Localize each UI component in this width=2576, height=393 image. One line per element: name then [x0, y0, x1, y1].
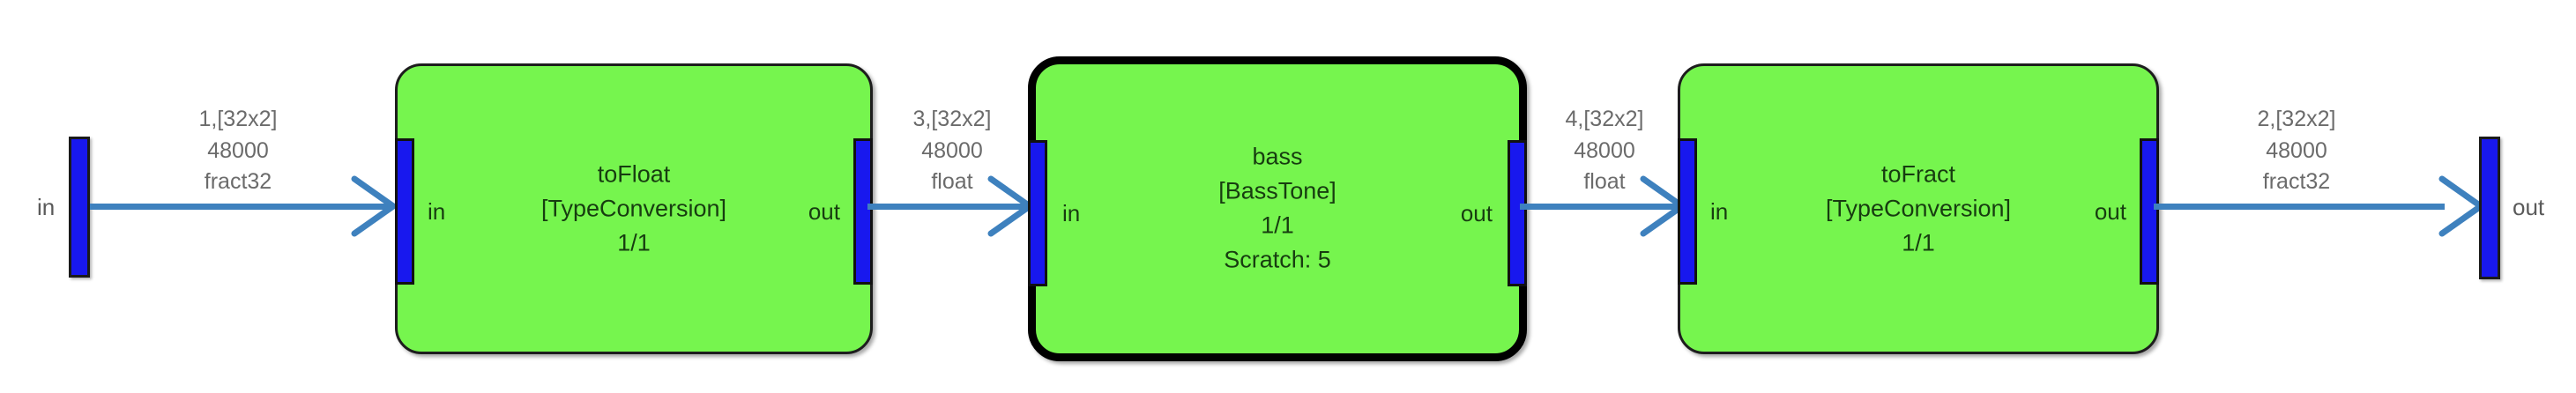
block-tofloat-in-label: in — [428, 200, 445, 223]
signal-2-wire[interactable] — [2154, 204, 2445, 210]
block-bass-out-port[interactable] — [1508, 140, 1527, 286]
signal-4-datatype: float — [1534, 167, 1675, 198]
block-tofloat-body: toFloat [TypeConversion] 1/1 — [398, 157, 870, 260]
signal-3-datatype: float — [882, 167, 1023, 198]
signal-1-datatype: fract32 — [141, 167, 335, 198]
signal-2-datatype: fract32 — [2200, 167, 2394, 198]
block-bass-out-label: out — [1461, 202, 1493, 225]
signal-3-index: 3,[32x2] — [882, 104, 1023, 136]
block-tofract-body: toFract [TypeConversion] 1/1 — [1680, 157, 2156, 260]
block-tofract-name: toFract — [1680, 157, 2156, 191]
block-diagram-canvas: in 1,[32x2] 48000 fract32 in out toFloat… — [0, 0, 2576, 393]
output-terminal[interactable] — [2479, 137, 2500, 279]
block-tofract-type: [TypeConversion] — [1680, 191, 2156, 226]
signal-4-index: 4,[32x2] — [1534, 104, 1675, 136]
block-bass-rate: 1/1 — [1036, 209, 1519, 243]
output-terminal-label: out — [2513, 196, 2544, 219]
input-terminal[interactable] — [69, 137, 90, 278]
signal-1-rate: 48000 — [141, 136, 335, 167]
block-tofract-in-label: in — [1710, 200, 1728, 223]
block-bass[interactable]: in out bass [BassTone] 1/1 Scratch: 5 — [1028, 56, 1527, 361]
signal-2-rate: 48000 — [2200, 136, 2394, 167]
block-bass-body: bass [BassTone] 1/1 Scratch: 5 — [1036, 140, 1519, 278]
block-bass-extra: Scratch: 5 — [1036, 243, 1519, 278]
signal-1-wire[interactable] — [90, 204, 390, 210]
signal-2-index: 2,[32x2] — [2200, 104, 2394, 136]
block-tofloat-out-label: out — [808, 200, 840, 223]
block-bass-in-port[interactable] — [1028, 140, 1047, 286]
block-tofloat-in-port[interactable] — [395, 138, 414, 285]
block-tofloat-rate: 1/1 — [398, 226, 870, 261]
block-bass-type: [BassTone] — [1036, 174, 1519, 209]
signal-1-annotation: 1,[32x2] 48000 fract32 — [141, 104, 335, 198]
block-tofract-rate: 1/1 — [1680, 226, 2156, 261]
block-tofloat-name: toFloat — [398, 157, 870, 191]
block-tofloat-out-port[interactable] — [853, 138, 873, 285]
signal-3-rate: 48000 — [882, 136, 1023, 167]
block-tofract[interactable]: in out toFract [TypeConversion] 1/1 — [1678, 63, 2159, 354]
block-tofract-out-port[interactable] — [2140, 138, 2159, 285]
signal-3-annotation: 3,[32x2] 48000 float — [882, 104, 1023, 198]
input-terminal-label: in — [37, 196, 55, 219]
block-tofract-in-port[interactable] — [1678, 138, 1697, 285]
block-tofract-out-label: out — [2095, 200, 2126, 223]
block-tofloat[interactable]: in out toFloat [TypeConversion] 1/1 — [395, 63, 873, 354]
signal-2-annotation: 2,[32x2] 48000 fract32 — [2200, 104, 2394, 198]
signal-1-index: 1,[32x2] — [141, 104, 335, 136]
block-tofloat-type: [TypeConversion] — [398, 191, 870, 226]
block-bass-name: bass — [1036, 140, 1519, 174]
signal-4-annotation: 4,[32x2] 48000 float — [1534, 104, 1675, 198]
signal-4-rate: 48000 — [1534, 136, 1675, 167]
block-bass-in-label: in — [1062, 202, 1080, 225]
